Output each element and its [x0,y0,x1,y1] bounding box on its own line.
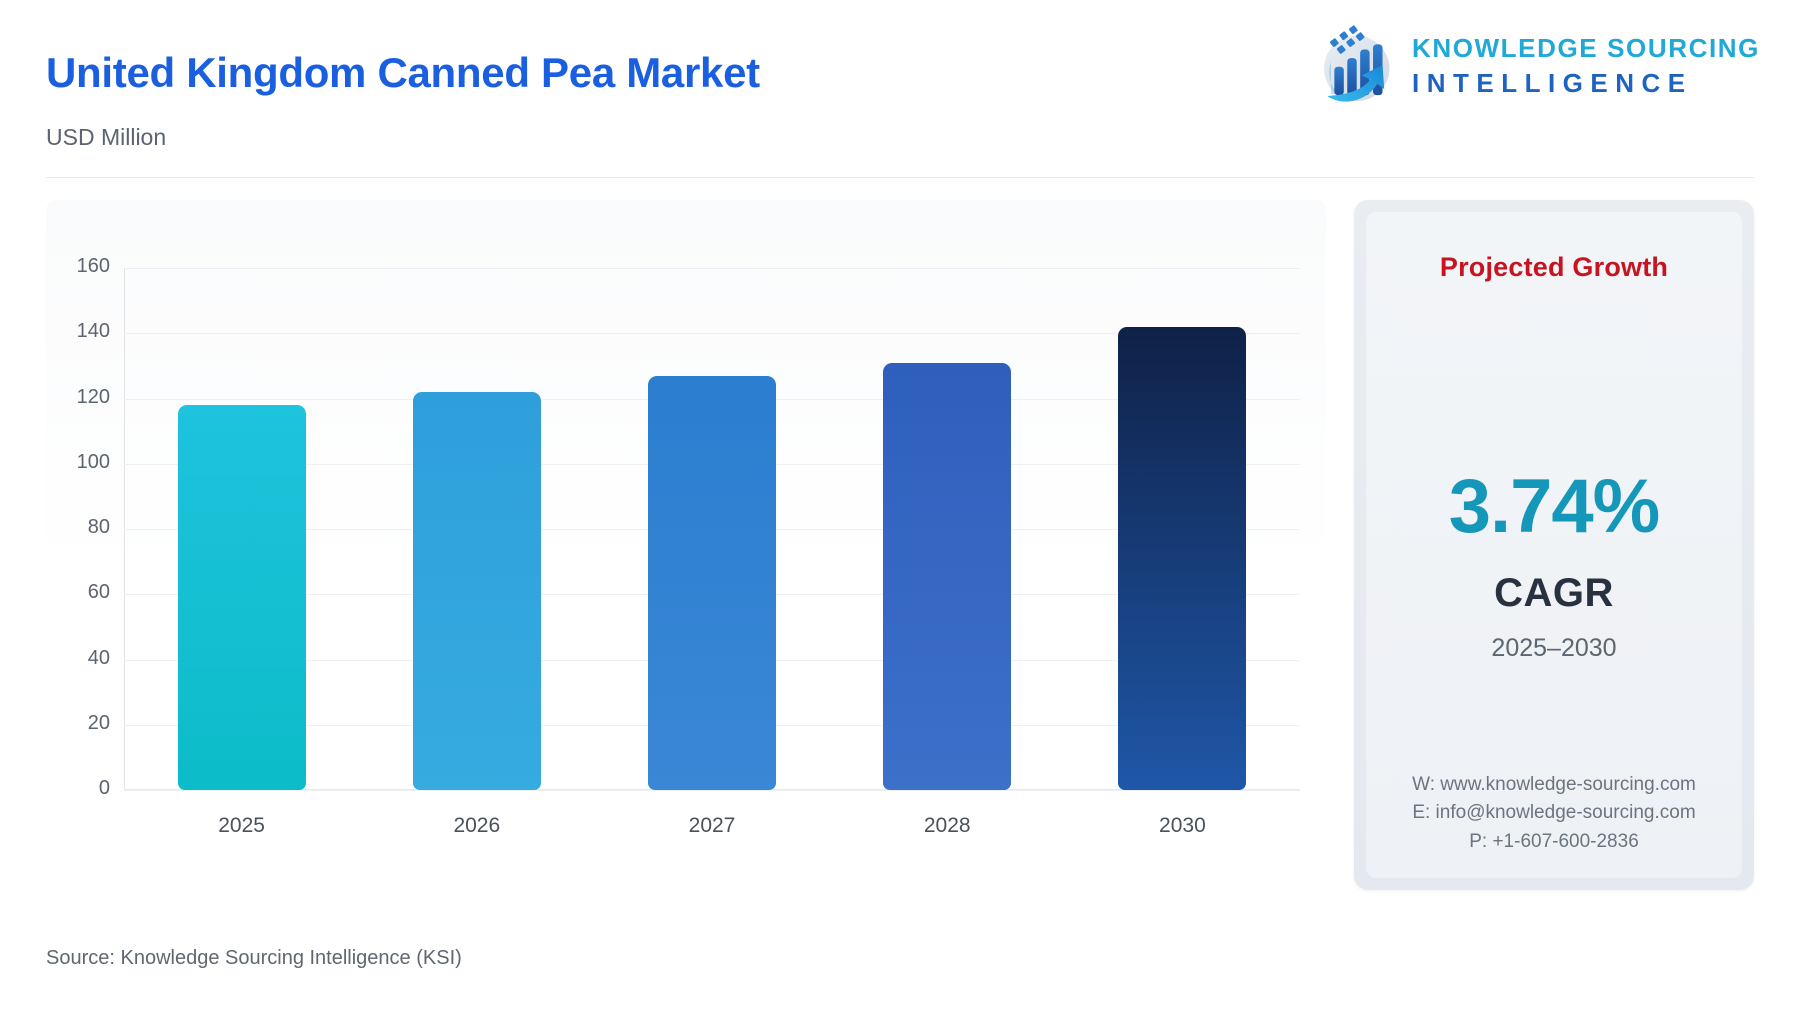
projected-growth-inner: Projected Growth 3.74% CAGR 2025–2030 W:… [1366,212,1742,878]
logo-line-1: KNOWLEDGE SOURCING [1412,35,1760,61]
y-axis-tick-label: 120 [77,386,110,409]
contact-website[interactable]: W: www.knowledge-sourcing.com [1412,771,1696,800]
contact-block: W: www.knowledge-sourcing.com E: info@kn… [1412,771,1696,857]
x-axis-tick-label: 2028 [830,814,1065,838]
chart-card: 020406080100120140160 202520262027202820… [46,200,1326,890]
bar[interactable] [178,405,306,790]
gridline [124,790,1300,791]
page-subtitle: USD Million [46,124,1754,151]
bar[interactable] [648,376,776,790]
y-axis-tick-label: 20 [88,712,110,735]
bar-slot: 2026 [359,268,594,790]
y-axis-tick-label: 60 [88,581,110,604]
source-note: Source: Knowledge Sourcing Intelligence … [46,947,462,970]
cagr-label: CAGR [1494,571,1614,616]
x-axis-tick-label: 2030 [1065,814,1300,838]
y-axis-tick-label: 0 [99,777,110,800]
bar-slot: 2030 [1065,268,1300,790]
bar-slot: 2027 [594,268,829,790]
header: United Kingdom Canned Pea Market USD Mil… [0,0,1800,178]
bar-chart-plot: 020406080100120140160 202520262027202820… [124,268,1300,790]
company-logo: KNOWLEDGE SOURCING INTELLIGENCE [1312,22,1760,108]
cagr-value: 3.74% [1449,469,1660,545]
logo-wordmark: KNOWLEDGE SOURCING INTELLIGENCE [1412,35,1760,96]
knowledge-sourcing-globe-icon [1312,22,1398,108]
bar-series: 20252026202720282030 [124,268,1300,790]
x-axis-tick-label: 2025 [124,814,359,838]
y-axis-tick-label: 40 [88,647,110,670]
bar[interactable] [1118,327,1246,790]
bar-slot: 2028 [830,268,1065,790]
logo-line-2: INTELLIGENCE [1412,70,1760,96]
chart-page: United Kingdom Canned Pea Market USD Mil… [0,0,1800,1012]
x-axis-tick-label: 2026 [359,814,594,838]
y-axis-tick-label: 160 [77,255,110,278]
bar[interactable] [883,363,1011,790]
content-area: 020406080100120140160 202520262027202820… [0,178,1800,878]
y-axis-tick-label: 80 [88,516,110,539]
projected-growth-card: Projected Growth 3.74% CAGR 2025–2030 W:… [1354,200,1754,890]
x-axis-tick-label: 2027 [594,814,829,838]
bar[interactable] [413,392,541,790]
contact-phone[interactable]: P: +1-607-600-2836 [1412,828,1696,857]
projected-growth-heading: Projected Growth [1440,252,1668,283]
bar-slot: 2025 [124,268,359,790]
contact-email[interactable]: E: info@knowledge-sourcing.com [1412,799,1696,828]
y-axis-tick-label: 100 [77,451,110,474]
y-axis-tick-label: 140 [77,320,110,343]
cagr-period: 2025–2030 [1491,634,1616,663]
